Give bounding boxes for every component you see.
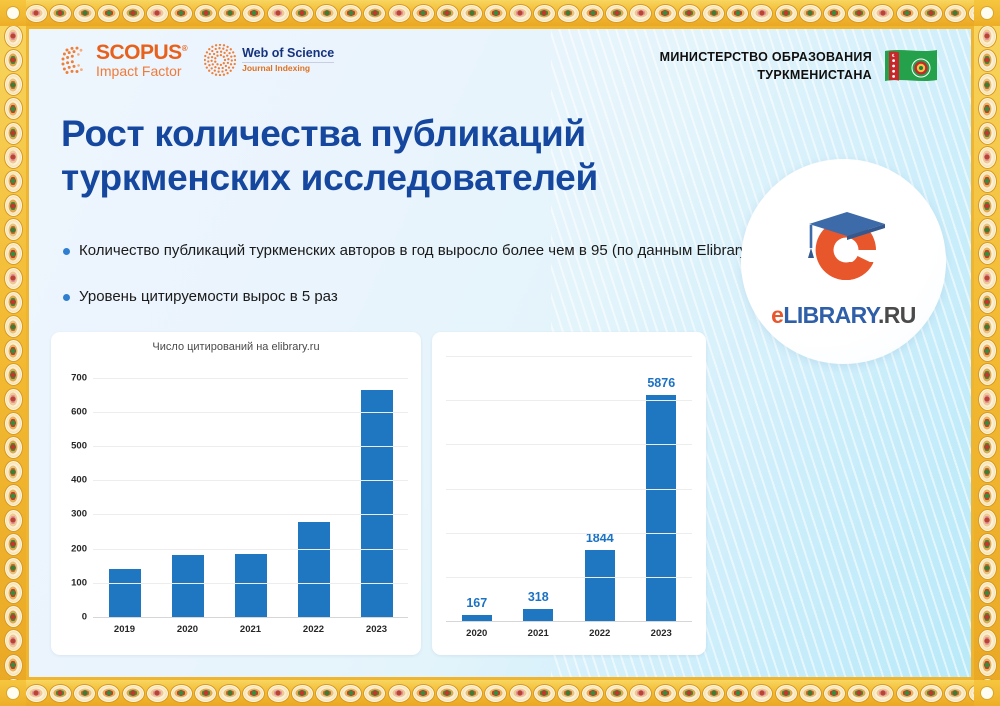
chart-x-tick-label: 2020 bbox=[156, 624, 219, 635]
carpet-medallion bbox=[978, 605, 997, 628]
chart-bars bbox=[93, 364, 408, 617]
chart-plot-area: 16731818445876 2020202120222023 bbox=[446, 356, 692, 621]
carpet-medallion bbox=[436, 684, 459, 703]
carpet-medallion bbox=[678, 4, 701, 23]
carpet-medallion bbox=[978, 170, 997, 193]
carpet-medallion bbox=[4, 25, 23, 48]
carpet-medallion bbox=[194, 684, 217, 703]
scopus-wordmark: SCOPUS® Impact Factor bbox=[96, 42, 187, 78]
chart-gridline bbox=[446, 489, 692, 490]
carpet-medallion bbox=[847, 684, 870, 703]
carpet-medallion bbox=[978, 388, 997, 411]
carpet-medallion bbox=[978, 533, 997, 556]
carpet-medallion bbox=[978, 484, 997, 507]
indexing-logos: SCOPUS® Impact Factor Web of Science Jou… bbox=[61, 42, 334, 78]
carpet-medallion bbox=[978, 629, 997, 652]
carpet-medallion bbox=[978, 291, 997, 314]
carpet-medallion bbox=[629, 4, 652, 23]
carpet-medallion bbox=[978, 194, 997, 217]
carpet-medallion bbox=[97, 684, 120, 703]
carpet-medallion bbox=[4, 363, 23, 386]
carpet-medallion bbox=[978, 339, 997, 362]
elibrary-lib-label: LIBRARY bbox=[783, 302, 878, 328]
chart-value-label: 5876 bbox=[647, 376, 675, 390]
carpet-medallion bbox=[702, 4, 725, 23]
carpet-medallion bbox=[726, 684, 749, 703]
carpet-medallion bbox=[799, 4, 822, 23]
chart-y-tick-label: 700 bbox=[71, 372, 87, 383]
carpet-medallion bbox=[654, 4, 677, 23]
carpet-medallion bbox=[4, 388, 23, 411]
carpet-medallion bbox=[194, 4, 217, 23]
carpet-border-left bbox=[0, 0, 26, 706]
carpet-medallion bbox=[4, 509, 23, 532]
carpet-medallion bbox=[4, 291, 23, 314]
bullet-dot-icon bbox=[63, 248, 70, 255]
carpet-medallion bbox=[4, 484, 23, 507]
chart-publications-count: 16731818445876 2020202120222023 bbox=[432, 332, 706, 655]
carpet-medallion bbox=[944, 4, 967, 23]
chart-bar-column bbox=[345, 364, 408, 617]
carpet-medallion bbox=[871, 4, 894, 23]
chart-gridline: 100 bbox=[93, 583, 408, 584]
carpet-medallion bbox=[654, 684, 677, 703]
chart-citations-elibrary: Число цитирований на elibrary.ru 2019202… bbox=[51, 332, 421, 655]
carpet-medallion bbox=[339, 4, 362, 23]
carpet-medallion bbox=[702, 684, 725, 703]
carpet-medallion bbox=[436, 4, 459, 23]
wos-main-label: Web of Science bbox=[242, 46, 334, 60]
carpet-medallion bbox=[4, 242, 23, 265]
carpet-medallion bbox=[896, 4, 919, 23]
bullet-dot-icon bbox=[63, 294, 70, 301]
carpet-medallion bbox=[533, 684, 556, 703]
carpet-medallion bbox=[978, 363, 997, 386]
chart-x-tick-label: 2019 bbox=[93, 624, 156, 635]
carpet-medallion bbox=[978, 581, 997, 604]
carpet-medallion bbox=[4, 73, 23, 96]
chart-x-tick-label: 2023 bbox=[345, 624, 408, 635]
carpet-medallion bbox=[978, 557, 997, 580]
chart-gridline bbox=[446, 577, 692, 578]
carpet-medallion bbox=[315, 4, 338, 23]
carpet-medallion bbox=[291, 4, 314, 23]
ministry-name: МИНИСТЕРСТВО ОБРАЗОВАНИЯ ТУРКМЕНИСТАНА bbox=[660, 47, 872, 85]
chart-title: Число цитирований на elibrary.ru bbox=[51, 341, 421, 353]
carpet-medallion bbox=[4, 533, 23, 556]
corner-ornament-top-right bbox=[974, 0, 1000, 26]
corner-ornament-top-left bbox=[0, 0, 26, 26]
carpet-medallion bbox=[920, 4, 943, 23]
carpet-medallion bbox=[4, 460, 23, 483]
chart-y-tick-label: 100 bbox=[71, 577, 87, 588]
carpet-medallion bbox=[978, 146, 997, 169]
carpet-medallion bbox=[388, 4, 411, 23]
carpet-medallion bbox=[978, 49, 997, 72]
carpet-medallion bbox=[4, 146, 23, 169]
carpet-medallion bbox=[605, 4, 628, 23]
ministry-block: МИНИСТЕРСТВО ОБРАЗОВАНИЯ ТУРКМЕНИСТАНА bbox=[660, 47, 939, 87]
scopus-main-label: SCOPUS bbox=[96, 41, 182, 64]
chart-bar-column bbox=[219, 364, 282, 617]
page-title: Рост количества публикаций туркменских и… bbox=[61, 112, 791, 201]
chart-gridline: 600 bbox=[93, 412, 408, 413]
page-title-line-1: Рост количества публикаций bbox=[61, 112, 791, 156]
carpet-medallion bbox=[218, 4, 241, 23]
chart-gridline bbox=[446, 621, 692, 622]
carpet-medallion bbox=[896, 684, 919, 703]
carpet-medallion bbox=[4, 194, 23, 217]
carpet-medallion bbox=[775, 684, 798, 703]
carpet-medallion bbox=[978, 267, 997, 290]
carpet-border-right bbox=[974, 0, 1000, 706]
chart-gridline bbox=[446, 444, 692, 445]
corner-ornament-bottom-right bbox=[974, 680, 1000, 706]
carpet-medallion bbox=[25, 684, 48, 703]
slide-canvas: SCOPUS® Impact Factor Web of Science Jou… bbox=[29, 29, 971, 677]
carpet-medallion bbox=[4, 170, 23, 193]
carpet-medallion bbox=[49, 4, 72, 23]
carpet-medallion bbox=[750, 4, 773, 23]
chart-bar-column bbox=[282, 364, 345, 617]
turkmenistan-flag-icon bbox=[881, 47, 939, 87]
carpet-medallion bbox=[73, 4, 96, 23]
carpet-medallion bbox=[557, 4, 580, 23]
carpet-medallion bbox=[267, 684, 290, 703]
wos-sub-label: Journal Indexing bbox=[242, 62, 334, 74]
chart-y-tick-label: 0 bbox=[82, 612, 87, 623]
carpet-medallion bbox=[4, 97, 23, 120]
carpet-medallion bbox=[4, 557, 23, 580]
carpet-medallion bbox=[533, 4, 556, 23]
carpet-medallion bbox=[4, 629, 23, 652]
carpet-medallion bbox=[73, 684, 96, 703]
chart-gridline: 0 bbox=[93, 617, 408, 618]
carpet-medallion bbox=[978, 25, 997, 48]
chart-x-tick-label: 2022 bbox=[282, 624, 345, 635]
chart-bar bbox=[298, 522, 330, 617]
chart-gridline: 500 bbox=[93, 446, 408, 447]
carpet-medallion bbox=[122, 4, 145, 23]
carpet-medallion bbox=[146, 684, 169, 703]
carpet-medallion bbox=[605, 684, 628, 703]
elibrary-logo: eLIBRARY.RU bbox=[741, 159, 946, 364]
carpet-medallion bbox=[4, 267, 23, 290]
carpet-medallion bbox=[978, 412, 997, 435]
chart-gridline bbox=[446, 400, 692, 401]
chart-y-tick-label: 400 bbox=[71, 475, 87, 486]
carpet-medallion bbox=[978, 218, 997, 241]
carpet-medallion bbox=[978, 242, 997, 265]
carpet-medallion bbox=[581, 684, 604, 703]
ministry-line-1: МИНИСТЕРСТВО ОБРАЗОВАНИЯ bbox=[660, 49, 872, 67]
carpet-medallion bbox=[363, 4, 386, 23]
carpet-medallion bbox=[4, 122, 23, 145]
chart-x-tick-label: 2020 bbox=[446, 628, 508, 639]
carpet-medallion bbox=[799, 684, 822, 703]
carpet-medallion bbox=[920, 684, 943, 703]
carpet-medallion bbox=[242, 684, 265, 703]
carpet-medallion bbox=[412, 4, 435, 23]
carpet-medallion bbox=[4, 315, 23, 338]
carpet-medallion bbox=[49, 684, 72, 703]
carpet-medallion bbox=[388, 684, 411, 703]
carpet-medallion bbox=[363, 684, 386, 703]
slide-background: SCOPUS® Impact Factor Web of Science Jou… bbox=[0, 0, 1000, 706]
slide-header: SCOPUS® Impact Factor Web of Science Jou… bbox=[29, 29, 971, 104]
chart-x-tick-label: 2021 bbox=[219, 624, 282, 635]
carpet-medallion bbox=[4, 412, 23, 435]
carpet-medallion bbox=[750, 684, 773, 703]
carpet-medallion bbox=[4, 339, 23, 362]
chart-x-axis-labels: 20192020202120222023 bbox=[93, 624, 408, 635]
bullet-text: Уровень цитируемости вырос в 5 раз bbox=[79, 287, 338, 307]
carpet-medallion bbox=[267, 4, 290, 23]
carpet-medallion bbox=[4, 581, 23, 604]
carpet-medallion bbox=[847, 4, 870, 23]
carpet-medallion bbox=[978, 436, 997, 459]
elibrary-wordmark: eLIBRARY.RU bbox=[771, 302, 916, 329]
wos-wordmark: Web of Science Journal Indexing bbox=[242, 46, 334, 73]
carpet-medallion bbox=[315, 684, 338, 703]
chart-plot-area: 20192020202120222023 0100200300400500600… bbox=[93, 364, 408, 617]
chart-bar bbox=[523, 609, 553, 621]
carpet-medallion bbox=[581, 4, 604, 23]
chart-bar bbox=[109, 569, 141, 617]
carpet-medallion bbox=[484, 4, 507, 23]
carpet-medallion bbox=[4, 654, 23, 677]
chart-bar bbox=[585, 550, 615, 621]
carpet-medallion bbox=[339, 684, 362, 703]
carpet-medallion bbox=[146, 4, 169, 23]
chart-bar-column bbox=[156, 364, 219, 617]
bullet-text: Количество публикаций туркменских авторо… bbox=[79, 241, 769, 261]
elibrary-ru-label: .RU bbox=[878, 302, 916, 328]
carpet-medallion bbox=[978, 97, 997, 120]
page-title-line-2: туркменских исследователей bbox=[61, 156, 791, 200]
scopus-dots-icon bbox=[61, 45, 91, 75]
chart-y-tick-label: 200 bbox=[71, 543, 87, 554]
carpet-medallion bbox=[242, 4, 265, 23]
carpet-medallion bbox=[871, 684, 894, 703]
scopus-logo: SCOPUS® Impact Factor bbox=[61, 42, 187, 78]
carpet-medallion bbox=[218, 684, 241, 703]
chart-bar-column bbox=[93, 364, 156, 617]
carpet-medallion bbox=[978, 509, 997, 532]
carpet-medallion bbox=[978, 460, 997, 483]
carpet-medallion bbox=[170, 4, 193, 23]
carpet-medallion bbox=[678, 684, 701, 703]
carpet-medallion bbox=[291, 684, 314, 703]
chart-bar bbox=[646, 395, 676, 621]
chart-value-label: 318 bbox=[528, 590, 549, 604]
carpet-medallion bbox=[4, 605, 23, 628]
elibrary-e-label: e bbox=[771, 302, 783, 328]
registered-trademark-icon: ® bbox=[182, 44, 187, 53]
carpet-border-top bbox=[0, 0, 1000, 26]
chart-x-axis-labels: 2020202120222023 bbox=[446, 628, 692, 639]
carpet-medallion bbox=[170, 684, 193, 703]
carpet-medallion bbox=[629, 684, 652, 703]
chart-gridline: 300 bbox=[93, 514, 408, 515]
carpet-medallion bbox=[484, 684, 507, 703]
chart-x-tick-label: 2021 bbox=[508, 628, 570, 639]
carpet-medallion bbox=[4, 49, 23, 72]
scopus-sub-label: Impact Factor bbox=[96, 64, 187, 78]
carpet-medallion bbox=[4, 436, 23, 459]
carpet-medallion bbox=[978, 654, 997, 677]
carpet-medallion bbox=[978, 315, 997, 338]
carpet-medallion bbox=[97, 4, 120, 23]
carpet-medallion bbox=[412, 684, 435, 703]
chart-x-tick-label: 2023 bbox=[631, 628, 693, 639]
carpet-medallion bbox=[978, 122, 997, 145]
carpet-medallion bbox=[775, 4, 798, 23]
chart-gridline: 400 bbox=[93, 480, 408, 481]
carpet-medallion bbox=[509, 4, 532, 23]
carpet-medallion bbox=[557, 684, 580, 703]
carpet-medallion bbox=[25, 4, 48, 23]
carpet-medallion bbox=[726, 4, 749, 23]
web-of-science-logo: Web of Science Journal Indexing bbox=[204, 44, 334, 76]
chart-y-tick-label: 600 bbox=[71, 406, 87, 417]
chart-value-label: 167 bbox=[466, 596, 487, 610]
carpet-medallion bbox=[122, 684, 145, 703]
carpet-medallion bbox=[460, 684, 483, 703]
chart-gridline: 700 bbox=[93, 378, 408, 379]
chart-bar bbox=[235, 554, 267, 617]
carpet-medallion bbox=[460, 4, 483, 23]
carpet-medallion bbox=[823, 684, 846, 703]
chart-y-tick-label: 500 bbox=[71, 441, 87, 452]
chart-y-tick-label: 300 bbox=[71, 509, 87, 520]
carpet-medallion bbox=[823, 4, 846, 23]
corner-ornament-bottom-left bbox=[0, 680, 26, 706]
chart-bar bbox=[172, 555, 204, 617]
carpet-medallion bbox=[4, 218, 23, 241]
carpet-medallion bbox=[944, 684, 967, 703]
graduation-cap-e-icon bbox=[785, 194, 903, 298]
ministry-line-2: ТУРКМЕНИСТАНА bbox=[660, 67, 872, 85]
wos-dots-icon bbox=[204, 44, 236, 76]
chart-x-tick-label: 2022 bbox=[569, 628, 631, 639]
chart-gridline bbox=[446, 533, 692, 534]
chart-gridline: 200 bbox=[93, 549, 408, 550]
carpet-border-bottom bbox=[0, 680, 1000, 706]
chart-gridline bbox=[446, 356, 692, 357]
carpet-medallion bbox=[978, 73, 997, 96]
carpet-medallion bbox=[509, 684, 532, 703]
